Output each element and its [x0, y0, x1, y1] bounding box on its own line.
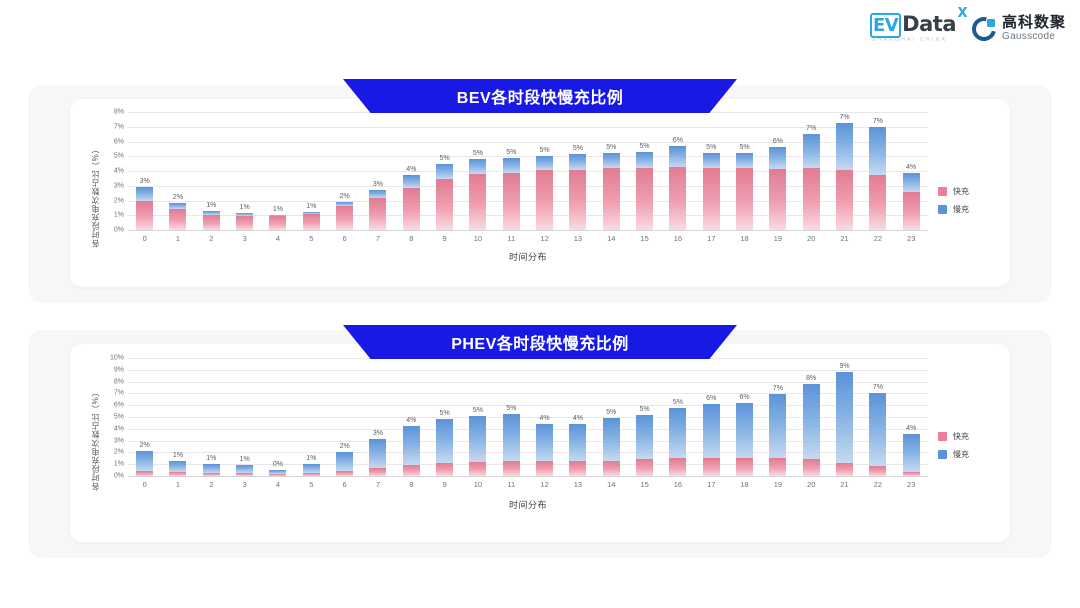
gridline: [128, 230, 928, 231]
x-axis-tick: 20: [795, 480, 828, 489]
bar-value-label: 5%: [573, 145, 583, 152]
bar-segment-slow[interactable]: [403, 426, 420, 464]
stacked-bar[interactable]: [503, 414, 520, 476]
bar-slot[interactable]: 5%: [628, 358, 661, 476]
bar-slot[interactable]: 4%: [895, 112, 928, 230]
bar-segment-slow[interactable]: [403, 175, 420, 188]
bar-segment-fast[interactable]: [769, 169, 786, 230]
stacked-bar[interactable]: [303, 212, 320, 230]
stacked-bar[interactable]: [836, 372, 853, 476]
stacked-bar[interactable]: [769, 147, 786, 230]
bar-slot[interactable]: 6%: [761, 112, 794, 230]
bar-value-label: 1%: [306, 203, 316, 210]
bar-value-label: 1%: [173, 452, 183, 459]
bar-segment-fast[interactable]: [503, 173, 520, 230]
bar-slot[interactable]: 5%: [461, 112, 494, 230]
bar-segment-slow[interactable]: [436, 419, 453, 463]
bar-slot[interactable]: 5%: [495, 112, 528, 230]
phev-chart-title: PHEV各时段快慢充比例: [343, 325, 737, 359]
bar-segment-slow[interactable]: [503, 158, 520, 173]
bar-segment-slow[interactable]: [336, 452, 353, 470]
bar-segment-slow[interactable]: [736, 153, 753, 168]
stacked-bar[interactable]: [369, 439, 386, 476]
bar-value-label: 1%: [206, 202, 216, 209]
bar-value-label: 4%: [906, 164, 916, 171]
x-axis-tick: 4: [261, 234, 294, 243]
bar-slot[interactable]: 3%: [361, 112, 394, 230]
bar-segment-fast[interactable]: [703, 168, 720, 230]
bar-slot[interactable]: 7%: [861, 112, 894, 230]
bar-segment-fast[interactable]: [603, 168, 620, 230]
bar-value-label: 2%: [140, 442, 150, 449]
stacked-bar[interactable]: [203, 464, 220, 476]
bar-segment-fast[interactable]: [603, 461, 620, 476]
x-axis-tick: 10: [461, 234, 494, 243]
x-axis-tick: 12: [528, 234, 561, 243]
bar-segment-fast[interactable]: [836, 463, 853, 476]
bar-segment-fast[interactable]: [203, 473, 220, 476]
bar-segment-fast[interactable]: [303, 214, 320, 230]
bar-slot[interactable]: 1%: [261, 112, 294, 230]
stacked-bar[interactable]: [169, 461, 186, 476]
bar-value-label: 7%: [806, 125, 816, 132]
bar-value-label: 1%: [240, 204, 250, 211]
y-axis-tick: 5%: [114, 153, 124, 160]
bar-slot[interactable]: 1%: [195, 112, 228, 230]
bar-value-label: 4%: [406, 417, 416, 424]
stacked-bar[interactable]: [536, 156, 553, 230]
bar-slot[interactable]: 2%: [328, 358, 361, 476]
bar-segment-fast[interactable]: [869, 175, 886, 230]
x-axis-tick: 8: [395, 480, 428, 489]
bar-segment-slow[interactable]: [669, 146, 686, 167]
bar-value-label: 8%: [806, 375, 816, 382]
bar-slot[interactable]: 5%: [661, 358, 694, 476]
stacked-bar[interactable]: [869, 393, 886, 476]
bar-segment-slow[interactable]: [536, 424, 553, 462]
x-axis-tick: 5: [295, 480, 328, 489]
x-axis-tick: 17: [695, 480, 728, 489]
stacked-bar[interactable]: [603, 418, 620, 476]
bar-value-label: 5%: [706, 144, 716, 151]
bar-value-label: 4%: [406, 166, 416, 173]
bar-slot[interactable]: 8%: [795, 358, 828, 476]
x-axis-tick: 9: [428, 234, 461, 243]
stacked-bar[interactable]: [469, 159, 486, 230]
legend-label-slow: 慢充: [953, 449, 969, 460]
bar-value-label: 5%: [640, 406, 650, 413]
bar-value-label: 5%: [473, 407, 483, 414]
bar-segment-fast[interactable]: [236, 216, 253, 230]
stacked-bar[interactable]: [569, 154, 586, 230]
bar-segment-slow[interactable]: [869, 393, 886, 466]
bar-value-label: 5%: [440, 410, 450, 417]
bar-segment-fast[interactable]: [269, 216, 286, 230]
x-axis-tick: 11: [495, 480, 528, 489]
x-axis-tick: 15: [628, 480, 661, 489]
bar-segment-fast[interactable]: [769, 458, 786, 476]
bar-value-label: 6%: [706, 395, 716, 402]
stacked-bar[interactable]: [536, 424, 553, 477]
x-axis-tick: 14: [595, 480, 628, 489]
x-axis-tick: 7: [361, 234, 394, 243]
bar-segment-fast[interactable]: [736, 458, 753, 476]
bar-slot[interactable]: 4%: [895, 358, 928, 476]
bar-slot[interactable]: 5%: [561, 112, 594, 230]
bar-segment-fast[interactable]: [169, 209, 186, 230]
bar-segment-slow[interactable]: [136, 451, 153, 471]
bar-value-label: 5%: [473, 150, 483, 157]
bar-slot[interactable]: 1%: [195, 358, 228, 476]
bar-segment-slow[interactable]: [369, 439, 386, 467]
bar-value-label: 2%: [173, 194, 183, 201]
stacked-bar[interactable]: [803, 134, 820, 230]
bar-segment-slow[interactable]: [769, 147, 786, 169]
stacked-bar[interactable]: [669, 146, 686, 230]
bar-slot[interactable]: 1%: [228, 112, 261, 230]
x-axis-tick: 13: [561, 234, 594, 243]
stacked-bar[interactable]: [603, 153, 620, 230]
bar-segment-fast[interactable]: [869, 466, 886, 476]
x-axis-tick: 18: [728, 480, 761, 489]
x-axis-tick: 0: [128, 480, 161, 489]
bar-segment-slow[interactable]: [569, 154, 586, 169]
bar-segment-slow[interactable]: [169, 461, 186, 473]
bar-segment-fast[interactable]: [469, 174, 486, 230]
phev-plot-area: 0%1%2%3%4%5%6%7%8%9%10% 2%1%1%1%0%1%2%3%…: [128, 358, 928, 476]
phev-x-axis-label: 时间分布: [128, 498, 928, 511]
stacked-bar[interactable]: [136, 187, 153, 230]
stacked-bar[interactable]: [669, 408, 686, 476]
bar-slot[interactable]: 5%: [428, 112, 461, 230]
bar-segment-fast[interactable]: [269, 474, 286, 476]
bar-slot[interactable]: 6%: [728, 358, 761, 476]
bar-value-label: 1%: [273, 206, 283, 213]
bar-slot[interactable]: 5%: [595, 358, 628, 476]
evdata-wordmark: EVDataX: [870, 14, 956, 35]
x-axis-tick: 3: [228, 234, 261, 243]
bar-slot[interactable]: 1%: [295, 112, 328, 230]
bar-segment-fast[interactable]: [569, 170, 586, 230]
bar-segment-fast[interactable]: [836, 170, 853, 230]
bar-value-label: 2%: [340, 193, 350, 200]
stacked-bar[interactable]: [769, 394, 786, 476]
stacked-bar[interactable]: [369, 190, 386, 230]
bar-segment-slow[interactable]: [869, 127, 886, 175]
bar-segment-fast[interactable]: [203, 215, 220, 230]
stacked-bar[interactable]: [236, 465, 253, 476]
bar-slot[interactable]: 9%: [828, 358, 861, 476]
bar-segment-fast[interactable]: [303, 473, 320, 476]
stacked-bar[interactable]: [403, 426, 420, 476]
bar-slot[interactable]: 5%: [428, 358, 461, 476]
stacked-bar[interactable]: [869, 127, 886, 230]
legend-swatch-slow-icon: [938, 205, 947, 214]
stacked-bar[interactable]: [836, 123, 853, 230]
stacked-bar[interactable]: [336, 452, 353, 476]
stacked-bar[interactable]: [169, 203, 186, 230]
bar-segment-slow[interactable]: [436, 164, 453, 179]
bar-slot[interactable]: 7%: [795, 112, 828, 230]
x-axis-tick: 5: [295, 234, 328, 243]
stacked-bar[interactable]: [136, 451, 153, 476]
stacked-bar[interactable]: [236, 213, 253, 230]
legend-item-fast: 快充: [938, 431, 969, 442]
bev-y-axis-label: 各时段充电次数占比（%）: [90, 145, 101, 247]
bar-slot[interactable]: 2%: [161, 112, 194, 230]
legend-item-slow: 慢充: [938, 204, 969, 215]
bar-value-label: 5%: [740, 144, 750, 151]
bar-segment-fast[interactable]: [436, 463, 453, 476]
bar-segment-fast[interactable]: [669, 458, 686, 476]
bar-segment-fast[interactable]: [236, 473, 253, 476]
bar-segment-slow[interactable]: [803, 384, 820, 460]
bar-segment-fast[interactable]: [803, 168, 820, 230]
bar-value-label: 1%: [306, 455, 316, 462]
bev-plot-area: 0%1%2%3%4%5%6%7%8% 3%2%1%1%1%1%2%3%4%5%5…: [128, 112, 928, 230]
x-axis-tick: 23: [895, 234, 928, 243]
gausscode-en-name: Gausscode: [1002, 32, 1066, 42]
bar-segment-slow[interactable]: [303, 464, 320, 473]
bar-segment-fast[interactable]: [636, 459, 653, 476]
bar-slot[interactable]: 6%: [661, 112, 694, 230]
x-axis-tick: 2: [195, 234, 228, 243]
bar-value-label: 5%: [440, 155, 450, 162]
stacked-bar[interactable]: [269, 470, 286, 476]
y-axis-tick: 0%: [114, 227, 124, 234]
bar-segment-fast[interactable]: [903, 192, 920, 230]
bar-slot[interactable]: 5%: [728, 112, 761, 230]
stacked-bar[interactable]: [903, 173, 920, 230]
x-axis-tick: 14: [595, 234, 628, 243]
bar-slot[interactable]: 7%: [828, 112, 861, 230]
bar-segment-fast[interactable]: [669, 167, 686, 230]
bar-segment-fast[interactable]: [903, 472, 920, 476]
stacked-bar[interactable]: [636, 415, 653, 476]
bar-slot[interactable]: 1%: [228, 358, 261, 476]
stacked-bar[interactable]: [269, 215, 286, 230]
bar-slot[interactable]: 2%: [328, 112, 361, 230]
bev-x-axis: 01234567891011121314151617181920212223: [128, 234, 928, 243]
y-axis-tick: 9%: [114, 366, 124, 373]
bar-value-label: 5%: [606, 144, 616, 151]
bar-segment-slow[interactable]: [136, 187, 153, 201]
bar-segment-slow[interactable]: [536, 156, 553, 171]
bar-segment-slow[interactable]: [469, 416, 486, 461]
bar-segment-slow[interactable]: [636, 415, 653, 460]
stacked-bar[interactable]: [336, 202, 353, 230]
stacked-bar[interactable]: [569, 424, 586, 477]
bar-segment-fast[interactable]: [336, 471, 353, 476]
bar-slot[interactable]: 6%: [695, 358, 728, 476]
bar-segment-slow[interactable]: [236, 465, 253, 473]
bar-segment-fast[interactable]: [436, 179, 453, 230]
bar-segment-fast[interactable]: [736, 168, 753, 230]
bar-value-label: 7%: [839, 114, 849, 121]
bar-segment-slow[interactable]: [903, 434, 920, 472]
bar-segment-slow[interactable]: [603, 418, 620, 461]
stacked-bar[interactable]: [403, 175, 420, 230]
legend-swatch-fast-icon: [938, 187, 947, 196]
y-axis-tick: 1%: [114, 212, 124, 219]
bar-segment-slow[interactable]: [603, 153, 620, 168]
bar-segment-slow[interactable]: [703, 404, 720, 458]
y-axis-tick: 6%: [114, 402, 124, 409]
bar-slot[interactable]: 3%: [128, 112, 161, 230]
stacked-bar[interactable]: [703, 404, 720, 476]
bar-segment-slow[interactable]: [469, 159, 486, 174]
x-axis-tick: 2: [195, 480, 228, 489]
stacked-bar[interactable]: [803, 384, 820, 476]
bar-segment-fast[interactable]: [569, 461, 586, 476]
bev-chart: 0%1%2%3%4%5%6%7%8% 3%2%1%1%1%1%2%3%4%5%5…: [128, 112, 928, 302]
stacked-bar[interactable]: [436, 419, 453, 476]
gausscode-logo: 高科数聚 Gausscode: [972, 15, 1066, 42]
bev-bars: 3%2%1%1%1%1%2%3%4%5%5%5%5%5%5%5%6%5%5%6%…: [128, 112, 928, 230]
bar-segment-fast[interactable]: [803, 459, 820, 476]
bar-segment-slow[interactable]: [503, 414, 520, 461]
y-axis-tick: 0%: [114, 473, 124, 480]
bar-slot[interactable]: 7%: [861, 358, 894, 476]
bar-segment-slow[interactable]: [369, 190, 386, 198]
legend-swatch-fast-icon: [938, 432, 947, 441]
bar-segment-slow[interactable]: [836, 123, 853, 170]
bar-segment-fast[interactable]: [403, 188, 420, 230]
bar-segment-fast[interactable]: [469, 462, 486, 476]
bar-segment-slow[interactable]: [803, 134, 820, 168]
evdata-data-text: Data: [902, 12, 956, 36]
phev-y-axis-label: 各时段充电次数占比（%）: [90, 388, 101, 490]
bar-segment-fast[interactable]: [703, 458, 720, 476]
bar-value-label: 6%: [773, 138, 783, 145]
evdata-x-icon: X: [957, 7, 967, 20]
bar-slot[interactable]: 4%: [561, 358, 594, 476]
bar-segment-fast[interactable]: [536, 461, 553, 476]
bar-segment-slow[interactable]: [636, 152, 653, 168]
bar-value-label: 3%: [140, 178, 150, 185]
bar-slot[interactable]: 4%: [528, 358, 561, 476]
x-axis-tick: 22: [861, 480, 894, 489]
stacked-bar[interactable]: [736, 153, 753, 230]
y-axis-tick: 8%: [114, 109, 124, 116]
bar-slot[interactable]: 5%: [595, 112, 628, 230]
x-axis-tick: 1: [161, 480, 194, 489]
y-axis-tick: 1%: [114, 461, 124, 468]
x-axis-tick: 23: [895, 480, 928, 489]
bar-segment-fast[interactable]: [336, 206, 353, 230]
bar-value-label: 9%: [839, 363, 849, 370]
bar-segment-fast[interactable]: [136, 471, 153, 476]
bar-value-label: 7%: [773, 385, 783, 392]
bar-slot[interactable]: 5%: [528, 112, 561, 230]
bar-slot[interactable]: 1%: [295, 358, 328, 476]
stacked-bar[interactable]: [736, 403, 753, 476]
bar-slot[interactable]: 4%: [395, 112, 428, 230]
bar-slot[interactable]: 7%: [761, 358, 794, 476]
stacked-bar[interactable]: [703, 153, 720, 230]
y-axis-tick: 3%: [114, 182, 124, 189]
bar-slot[interactable]: 1%: [161, 358, 194, 476]
bar-slot[interactable]: 4%: [395, 358, 428, 476]
bar-segment-slow[interactable]: [569, 424, 586, 462]
bar-value-label: 5%: [606, 409, 616, 416]
y-axis-tick: 7%: [114, 123, 124, 130]
bar-slot[interactable]: 3%: [361, 358, 394, 476]
x-axis-tick: 1: [161, 234, 194, 243]
stacked-bar[interactable]: [636, 152, 653, 230]
x-axis-tick: 20: [795, 234, 828, 243]
x-axis-tick: 6: [328, 234, 361, 243]
bar-slot[interactable]: 5%: [695, 112, 728, 230]
bar-slot[interactable]: 2%: [128, 358, 161, 476]
bar-segment-slow[interactable]: [769, 394, 786, 458]
bar-slot[interactable]: 5%: [628, 112, 661, 230]
phev-bars: 2%1%1%1%0%1%2%3%4%5%5%5%4%4%5%5%5%6%6%7%…: [128, 358, 928, 476]
bar-slot[interactable]: 5%: [495, 358, 528, 476]
bar-segment-slow[interactable]: [836, 372, 853, 463]
stacked-bar[interactable]: [469, 416, 486, 476]
stacked-bar[interactable]: [903, 434, 920, 476]
y-axis-tick: 3%: [114, 437, 124, 444]
x-axis-tick: 22: [861, 234, 894, 243]
bar-value-label: 0%: [273, 461, 283, 468]
x-axis-tick: 19: [761, 480, 794, 489]
bar-value-label: 4%: [906, 425, 916, 432]
y-axis-tick: 2%: [114, 449, 124, 456]
bar-value-label: 7%: [873, 384, 883, 391]
legend-item-fast: 快充: [938, 186, 969, 197]
bar-value-label: 5%: [506, 405, 516, 412]
y-axis-tick: 2%: [114, 197, 124, 204]
y-axis-tick: 7%: [114, 390, 124, 397]
x-axis-tick: 3: [228, 480, 261, 489]
gausscode-mark-icon: [972, 17, 996, 41]
stacked-bar[interactable]: [203, 211, 220, 230]
stacked-bar[interactable]: [303, 464, 320, 476]
x-axis-tick: 18: [728, 234, 761, 243]
bar-slot[interactable]: 5%: [461, 358, 494, 476]
x-axis-tick: 21: [828, 234, 861, 243]
bar-segment-slow[interactable]: [669, 408, 686, 458]
stacked-bar[interactable]: [503, 158, 520, 230]
bar-segment-fast[interactable]: [403, 465, 420, 476]
x-axis-tick: 17: [695, 234, 728, 243]
legend-label-fast: 快充: [953, 431, 969, 442]
bar-segment-fast[interactable]: [136, 201, 153, 230]
y-axis-tick: 10%: [110, 355, 124, 362]
phev-chart: 0%1%2%3%4%5%6%7%8%9%10% 2%1%1%1%0%1%2%3%…: [128, 358, 928, 558]
bev-x-axis-label: 时间分布: [128, 250, 928, 263]
bar-segment-fast[interactable]: [369, 198, 386, 230]
evdata-logo: EVDataX SHANGHAI CHINA: [870, 14, 956, 43]
legend-swatch-slow-icon: [938, 450, 947, 459]
bar-segment-fast[interactable]: [636, 168, 653, 230]
bar-segment-slow[interactable]: [903, 173, 920, 191]
x-axis-tick: 9: [428, 480, 461, 489]
stacked-bar[interactable]: [436, 164, 453, 230]
legend-label-fast: 快充: [953, 186, 969, 197]
x-axis-tick: 8: [395, 234, 428, 243]
bar-segment-fast[interactable]: [169, 472, 186, 476]
bar-slot[interactable]: 0%: [261, 358, 294, 476]
bar-segment-slow[interactable]: [203, 464, 220, 473]
bar-segment-slow[interactable]: [736, 403, 753, 457]
bar-segment-slow[interactable]: [703, 153, 720, 168]
legend-item-slow: 慢充: [938, 449, 969, 460]
bar-segment-fast[interactable]: [503, 461, 520, 476]
bar-segment-fast[interactable]: [369, 468, 386, 476]
bar-segment-fast[interactable]: [536, 170, 553, 230]
